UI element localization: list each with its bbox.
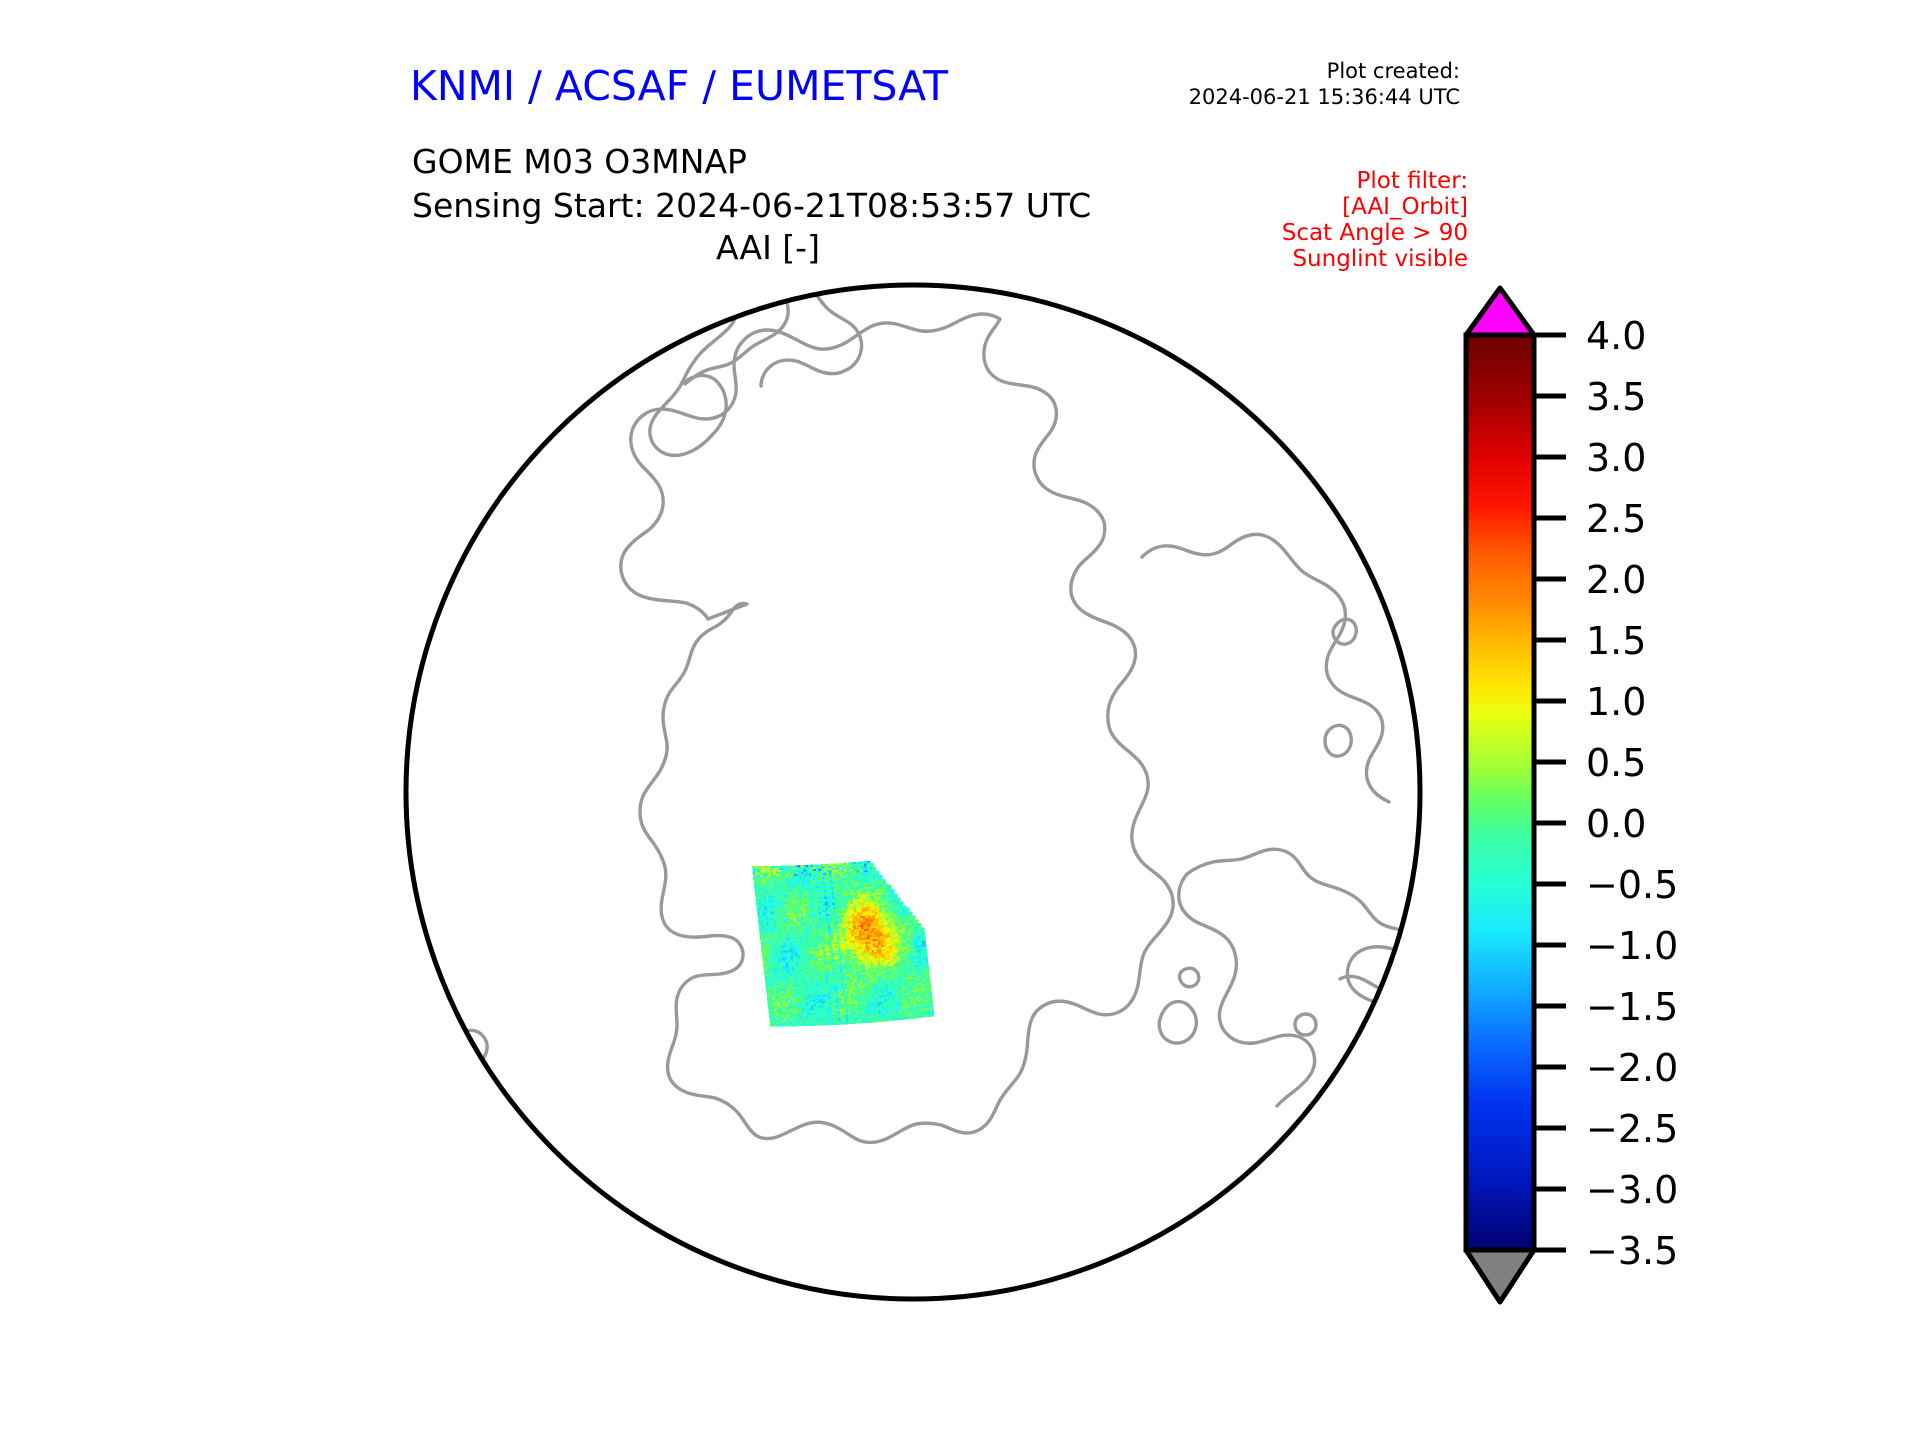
plot-created-block: Plot created: 2024-06-21 15:36:44 UTC (1189, 58, 1460, 110)
institute-title: KNMI / ACSAF / EUMETSAT (410, 62, 948, 110)
colorbar-tick-label: 2.0 (1586, 558, 1646, 602)
plot-filter-sunglint: Sunglint visible (1282, 246, 1468, 272)
colorbar-ticks: 4.03.53.02.52.01.51.00.50.0−0.5−1.0−1.5−… (1534, 314, 1678, 1273)
plot-filter-scat-angle: Scat Angle > 90 (1282, 220, 1468, 246)
colorbar-panel: 4.03.53.02.52.01.51.00.50.0−0.5−1.0−1.5−… (1440, 280, 1860, 1320)
colorbar-tick-label: −3.5 (1586, 1229, 1678, 1273)
product-name: GOME M03 O3MNAP (412, 140, 1091, 184)
plot-created-label: Plot created: (1189, 58, 1460, 84)
coastline-tasmania (423, 392, 476, 449)
plot-filter-variable: [AAI_Orbit] (1282, 194, 1468, 220)
colorbar-tick-label: 3.0 (1586, 436, 1646, 480)
colorbar-tick-label: −3.0 (1586, 1168, 1678, 1212)
colorbar-tick-label: 1.5 (1586, 619, 1646, 663)
plot-created-timestamp: 2024-06-21 15:36:44 UTC (1189, 84, 1460, 110)
colorbar-tick-label: −2.0 (1586, 1046, 1678, 1090)
map-panel (395, 272, 1435, 1317)
plot-filter-label: Plot filter: (1282, 168, 1468, 194)
colorbar-tick-label: 3.5 (1586, 375, 1646, 419)
coastline-australia-corner (395, 349, 457, 365)
globe-disc (406, 285, 1420, 1299)
variable-title: AAI [-] (412, 228, 1124, 267)
colorbar-tick-label: 4.0 (1586, 314, 1646, 358)
polar-map-plot (395, 272, 1435, 1317)
colorbar: 4.03.53.02.52.01.51.00.50.0−0.5−1.0−1.5−… (1440, 280, 1860, 1320)
plot-filter-block: Plot filter: [AAI_Orbit] Scat Angle > 90… (1282, 168, 1468, 272)
colorbar-tick-label: −1.0 (1586, 924, 1678, 968)
colorbar-tick-label: 0.5 (1586, 741, 1646, 785)
colorbar-tick-label: −1.5 (1586, 985, 1678, 1029)
sensing-start: Sensing Start: 2024-06-21T08:53:57 UTC (412, 184, 1091, 228)
colorbar-gradient-body (1466, 335, 1534, 1250)
colorbar-tick-label: 0.0 (1586, 802, 1646, 846)
colorbar-under-range-arrow (1466, 1250, 1534, 1302)
colorbar-tick-label: 1.0 (1586, 680, 1646, 724)
colorbar-tick-label: −0.5 (1586, 863, 1678, 907)
colorbar-tick-label: −2.5 (1586, 1107, 1678, 1151)
colorbar-over-range-arrow (1466, 288, 1534, 335)
colorbar-tick-label: 2.5 (1586, 497, 1646, 541)
product-title-block: GOME M03 O3MNAP Sensing Start: 2024-06-2… (412, 140, 1091, 228)
